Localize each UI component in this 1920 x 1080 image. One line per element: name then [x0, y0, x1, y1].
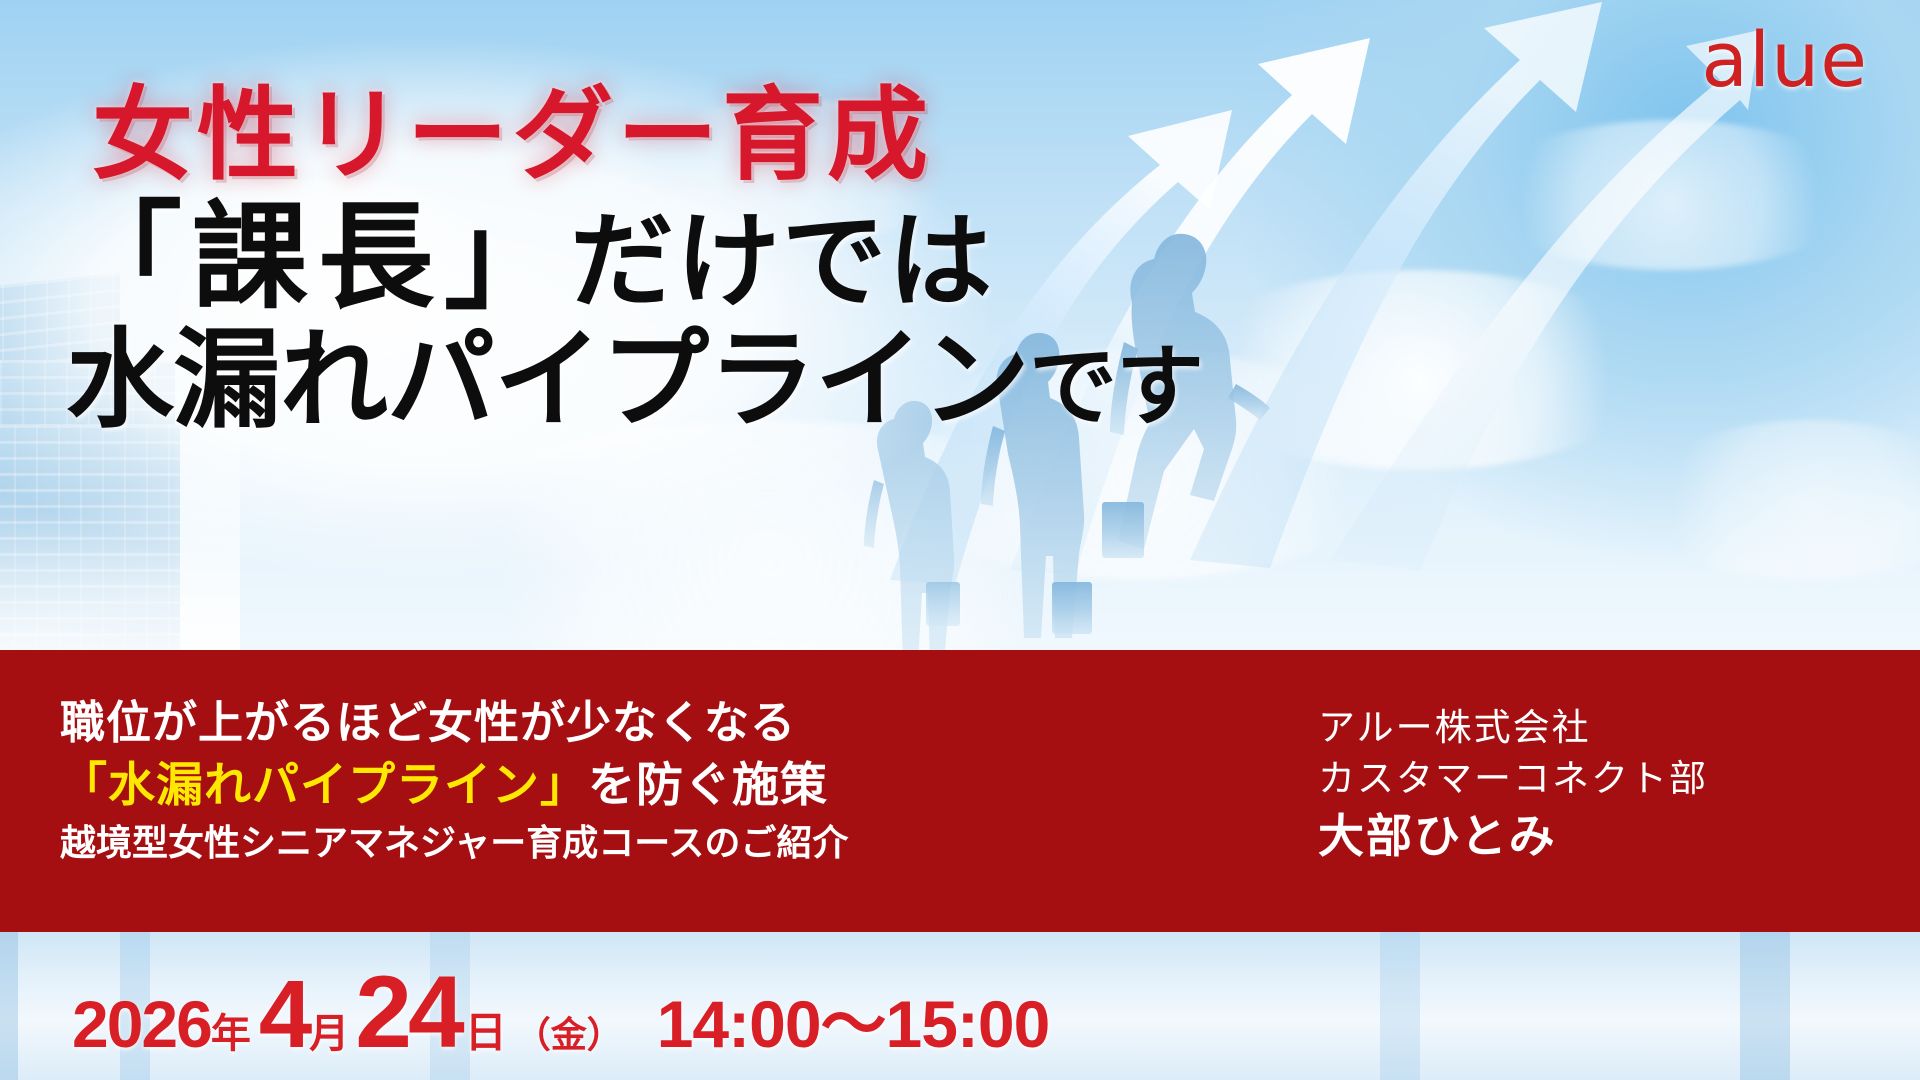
date-month: 4 — [259, 960, 309, 1070]
headline-line2-bracket-open: 「 — [66, 192, 192, 322]
headline-line2-tail: だけでは — [570, 204, 994, 320]
date-bar: 2026年4月24日（金）14:00〜15:00 — [0, 932, 1920, 1080]
date-year: 2026 — [72, 986, 211, 1062]
webinar-banner: alue 女性リーダー育成 「課長」だけでは 水漏れパイプラインです 職位が上が… — [0, 0, 1920, 1080]
date-day: 24 — [355, 954, 460, 1071]
headline-line2-emphasis: 課長 — [192, 192, 444, 322]
date-day-suffix: 日 — [465, 999, 507, 1060]
date-day-of-week: （金） — [515, 1006, 623, 1058]
headline-line1: 女性リーダー育成 — [92, 86, 1203, 187]
event-datetime: 2026年4月24日（金）14:00〜15:00 — [72, 954, 1049, 1071]
date-month-suffix: 月 — [309, 1001, 349, 1059]
speaker-department: カスタマーコネクト部 — [1318, 753, 1708, 804]
date-year-suffix: 年 — [211, 1001, 251, 1059]
band-line2-tail: を防ぐ施策 — [588, 758, 828, 811]
headline-line2: 「課長」だけでは — [66, 195, 1203, 320]
event-time: 14:00〜15:00 — [657, 971, 1050, 1067]
headline-line3-main: 水漏れパイプライン — [66, 319, 1029, 440]
band-line3: 越境型女性シニアマネジャー育成コースのご紹介 — [60, 821, 1160, 864]
red-info-band: 職位が上がるほど女性が少なくなる 「水漏れパイプライン」を防ぐ施策 越境型女性シ… — [0, 650, 1920, 932]
speaker-name: 大部ひとみ — [1318, 807, 1708, 867]
band-line2: 「水漏れパイプライン」を防ぐ施策 — [60, 754, 1160, 815]
speaker-company: アルー株式会社 — [1318, 702, 1708, 753]
alue-logo[interactable]: alue — [1701, 22, 1868, 98]
headline-line2-bracket-close: 」 — [444, 192, 570, 322]
headline-line3: 水漏れパイプラインです — [66, 322, 1203, 439]
headline-block: 女性リーダー育成 「課長」だけでは 水漏れパイプラインです — [66, 86, 1203, 439]
band-line1: 職位が上がるほど女性が少なくなる — [60, 698, 1160, 748]
headline-line3-tail: です — [1029, 337, 1203, 436]
band-line2-highlight: 「水漏れパイプライン」 — [60, 758, 588, 811]
band-description: 職位が上がるほど女性が少なくなる 「水漏れパイプライン」を防ぐ施策 越境型女性シ… — [60, 698, 1160, 865]
speaker-block: アルー株式会社 カスタマーコネクト部 大部ひとみ — [1318, 702, 1708, 867]
